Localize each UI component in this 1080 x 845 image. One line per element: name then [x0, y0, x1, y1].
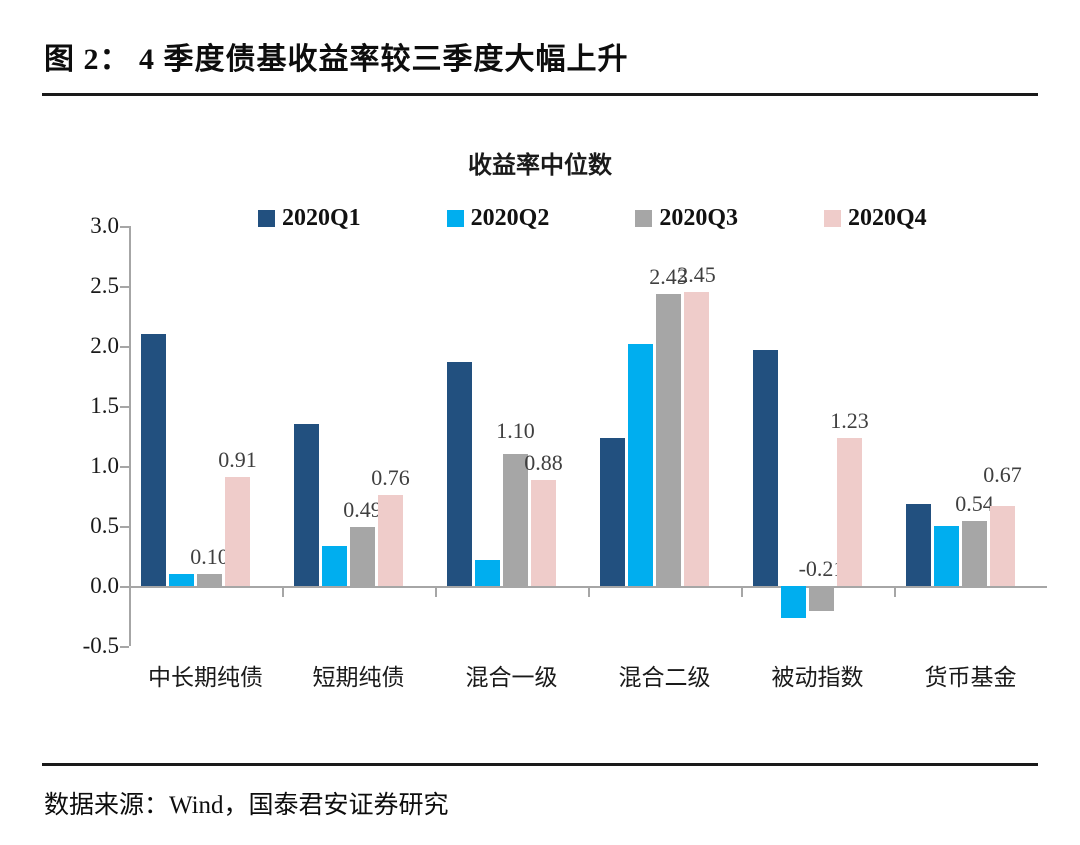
- figure-title: 图 2： 4 季度债基收益率较三季度大幅上升: [44, 34, 629, 78]
- y-axis-tick-label: 3.0: [90, 213, 119, 239]
- bar-2020q1-6[interactable]: [906, 504, 931, 586]
- bar-2020q1-2[interactable]: [294, 424, 319, 586]
- bar-2020q2-5[interactable]: [781, 586, 806, 618]
- bar-2020q4-2[interactable]: [378, 495, 403, 586]
- y-axis-tick: [120, 526, 129, 528]
- y-axis-labels: 3.02.52.01.51.00.50.0-0.5: [43, 226, 119, 646]
- bar-2020q3-5[interactable]: [809, 586, 834, 611]
- y-axis-tick-label: 2.0: [90, 333, 119, 359]
- bar-2020q1-5[interactable]: [753, 350, 778, 586]
- y-axis-tick-label: 1.0: [90, 453, 119, 479]
- y-axis-tick: [120, 226, 129, 228]
- bar-2020q1-3[interactable]: [447, 362, 472, 586]
- y-axis-tick-label: 2.5: [90, 273, 119, 299]
- chart-subtitle: 收益率中位数: [0, 145, 1080, 180]
- bar-value-label: 2.45: [677, 262, 716, 288]
- bar-2020q2-6[interactable]: [934, 526, 959, 586]
- x-axis-category-label: 混合二级: [619, 658, 711, 692]
- x-axis-category-label: 混合一级: [466, 658, 558, 692]
- x-axis-category-label: 货币基金: [925, 658, 1017, 692]
- bar-2020q2-1[interactable]: [169, 574, 194, 586]
- bar-2020q2-3[interactable]: [475, 560, 500, 586]
- x-axis-tick: [435, 586, 437, 597]
- y-axis-line: [129, 226, 131, 646]
- bar-value-label: 1.23: [830, 408, 869, 434]
- y-axis-tick: [120, 346, 129, 348]
- x-axis-tick: [741, 586, 743, 597]
- source-note: 数据来源：Wind，国泰君安证券研究: [44, 785, 449, 821]
- y-axis-tick: [120, 286, 129, 288]
- x-axis-category-label: 中长期纯债: [148, 658, 263, 692]
- bar-2020q4-1[interactable]: [225, 477, 250, 586]
- bar-2020q4-5[interactable]: [837, 438, 862, 586]
- bar-value-label: 0.54: [955, 491, 994, 517]
- legend-swatch-icon: [635, 210, 652, 227]
- bar-2020q2-2[interactable]: [322, 546, 347, 586]
- legend-swatch-icon: [824, 210, 841, 227]
- bar-2020q1-1[interactable]: [141, 334, 166, 586]
- x-axis-category-label: 短期纯债: [313, 658, 405, 692]
- bar-value-label: 1.10: [496, 418, 535, 444]
- bar-2020q1-4[interactable]: [600, 438, 625, 586]
- legend-swatch-icon: [447, 210, 464, 227]
- bar-value-label: 0.88: [524, 450, 563, 476]
- bar-2020q3-2[interactable]: [350, 527, 375, 586]
- legend-swatch-icon: [258, 210, 275, 227]
- bar-chart: 收益率中位数 2020Q12020Q22020Q32020Q4 3.02.52.…: [0, 100, 1080, 760]
- bar-2020q2-4[interactable]: [628, 344, 653, 586]
- bar-value-label: 0.91: [218, 447, 257, 473]
- y-axis-tick: [120, 406, 129, 408]
- bar-2020q4-3[interactable]: [531, 480, 556, 586]
- plot-area: 3.02.52.01.51.00.50.0-0.5 0.100.910.490.…: [129, 226, 1047, 646]
- x-axis-category-label: 被动指数: [772, 658, 864, 692]
- bar-2020q3-4[interactable]: [656, 294, 681, 586]
- bar-2020q3-1[interactable]: [197, 574, 222, 586]
- title-divider: [42, 93, 1038, 96]
- y-axis-tick: [120, 586, 129, 588]
- y-axis-tick: [120, 466, 129, 468]
- footer-divider: [42, 763, 1038, 766]
- bar-2020q4-4[interactable]: [684, 292, 709, 586]
- bar-value-label: 0.76: [371, 465, 410, 491]
- bar-value-label: 0.10: [190, 544, 229, 570]
- x-axis-tick: [894, 586, 896, 597]
- bar-2020q3-6[interactable]: [962, 521, 987, 586]
- y-axis-tick-label: 0.5: [90, 513, 119, 539]
- y-axis-tick-label: 1.5: [90, 393, 119, 419]
- y-axis-tick-label: 0.0: [90, 573, 119, 599]
- bar-2020q4-6[interactable]: [990, 506, 1015, 586]
- x-axis-tick: [282, 586, 284, 597]
- y-axis-tick: [120, 646, 129, 648]
- y-axis-tick-label: -0.5: [83, 633, 119, 659]
- bar-value-label: 0.49: [343, 497, 382, 523]
- x-axis-tick: [588, 586, 590, 597]
- bar-value-label: 0.67: [983, 462, 1022, 488]
